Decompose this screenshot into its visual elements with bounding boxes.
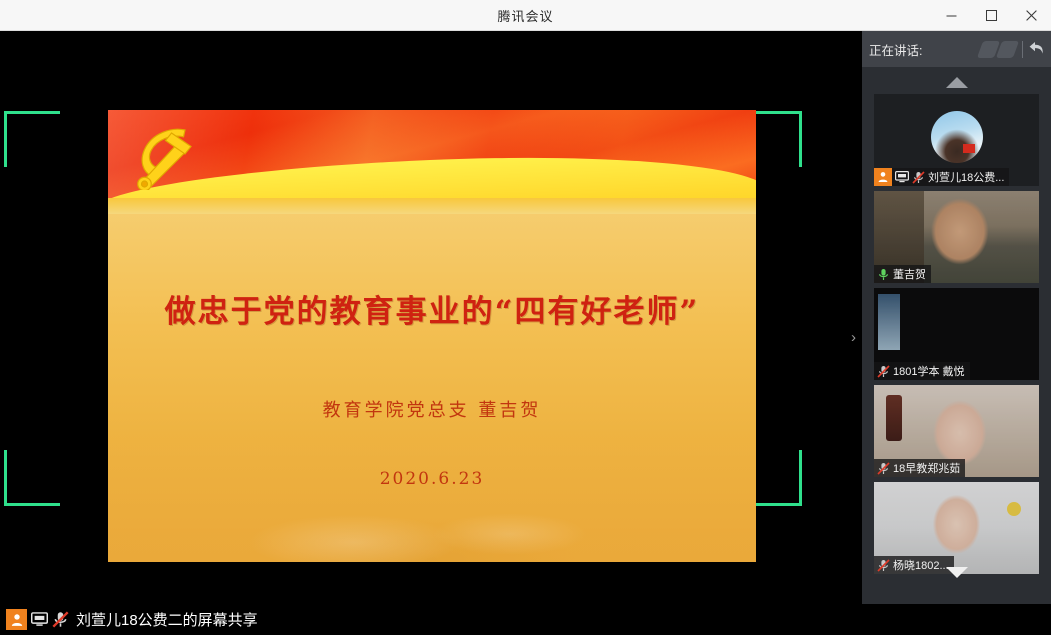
slide-watermark-image [108,422,756,562]
mic-muted-icon [877,559,890,572]
participant-tile[interactable]: 1801学本 戴悦 [874,288,1039,380]
slide-banner [108,110,756,214]
participant-tile-host[interactable]: 刘萱儿18公费... [874,94,1039,186]
audio-level-icon [980,41,1016,58]
scroll-down-chevron-down-icon[interactable] [946,567,968,578]
slide-title: 做忠于党的教育事业的“四有好老师” [108,286,756,331]
collapse-panel-chevron-right-icon[interactable]: › [845,322,862,352]
hammer-and-sickle-icon [126,124,202,190]
slide-date: 2020.6.23 [108,469,756,489]
presentation-slide: 做忠于党的教育事业的“四有好老师” 教育学院党总支 董吉贺 2020.6.23 [108,110,756,562]
banner-bottom-fill [108,198,756,214]
participant-name: 杨晓1802... [893,557,949,573]
tencent-meeting-window: 腾讯会议 [0,0,1051,635]
back-arrow-icon[interactable] [1029,41,1044,58]
participant-tile[interactable]: 杨晓1802... [874,482,1039,574]
minimize-icon [946,10,957,21]
close-icon [1026,10,1037,21]
share-status-text: 刘萱儿18公费二的屏幕共享 [76,609,258,630]
window-title: 腾讯会议 [497,6,553,25]
title-bar: 腾讯会议 [0,0,1051,31]
participant-name: 董吉贺 [893,266,926,282]
header-divider [1022,41,1023,58]
screen-share-icon [895,171,909,183]
back-arrow-glyph [1029,41,1044,55]
tile-label: 1801学本 戴悦 [874,362,970,380]
tile-label: 18早教郑兆茹 [874,459,965,477]
minimize-button[interactable] [931,0,971,31]
mic-muted-icon [912,171,925,184]
participant-name: 刘萱儿18公费... [928,169,1004,185]
participant-tiles: 刘萱儿18公费... 董吉贺 [862,91,1051,604]
mic-active-icon [877,268,890,281]
tile-label: 杨晓1802... [874,556,954,574]
window-controls [931,0,1051,31]
host-person-icon [874,168,892,186]
maximize-button[interactable] [971,0,1011,31]
scroll-up-chevron-up-icon[interactable] [946,77,968,88]
speaking-now-label: 正在讲话: [869,40,922,59]
mic-muted-icon [877,365,890,378]
participant-panel: 正在讲话: [862,31,1051,604]
mic-muted-icon [877,462,890,475]
tile-label: 董吉贺 [874,265,931,283]
host-person-icon [6,609,27,630]
maximize-icon [986,10,997,21]
participant-name: 1801学本 戴悦 [893,363,965,379]
tile-label: 刘萱儿18公费... [874,168,1009,186]
slide-subtitle: 教育学院党总支 董吉贺 [108,396,756,422]
close-button[interactable] [1011,0,1051,31]
participant-tile[interactable]: 18早教郑兆茹 [874,385,1039,477]
participant-tile[interactable]: 董吉贺 [874,191,1039,283]
panel-header: 正在讲话: [862,31,1051,67]
participant-name: 18早教郑兆茹 [893,460,960,476]
shared-screen-stage: 做忠于党的教育事业的“四有好老师” 教育学院党总支 董吉贺 2020.6.23 [0,31,862,604]
screen-share-icon [31,612,48,627]
mic-muted-icon [52,611,69,628]
avatar [931,111,983,163]
bottom-status-bar: 刘萱儿18公费二的屏幕共享 [0,604,1051,635]
